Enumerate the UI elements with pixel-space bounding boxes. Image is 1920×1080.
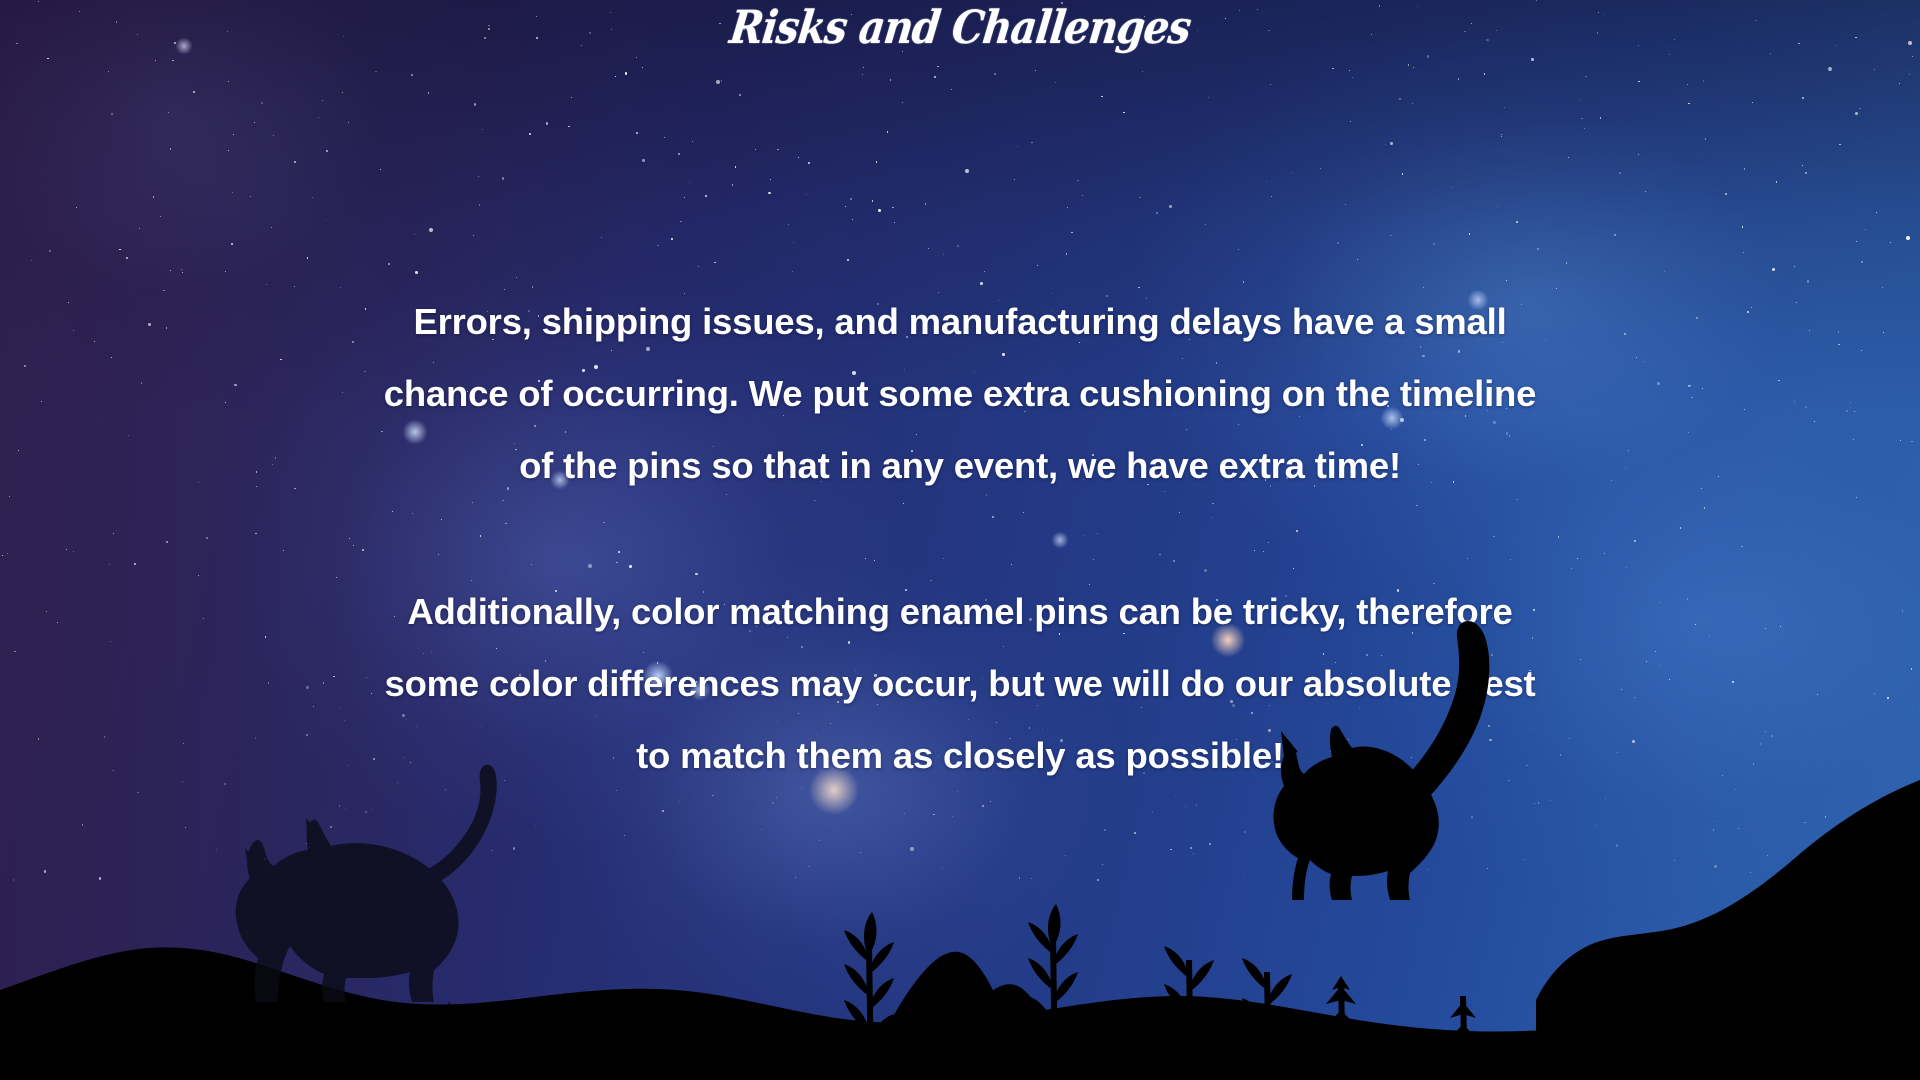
page-title: Risks and Challenges xyxy=(0,5,1920,52)
paragraph-line: of the pins so that in any event, we hav… xyxy=(186,430,1734,502)
walking-cat-silhouette xyxy=(196,762,526,1002)
paragraph-line: chance of occurring. We put some extra c… xyxy=(186,358,1734,430)
banner-canvas: Risks and Challenges Errors, shipping is… xyxy=(0,0,1920,1080)
risks-paragraph: Errors, shipping issues, and manufacturi… xyxy=(0,286,1920,502)
paragraph-line: Errors, shipping issues, and manufacturi… xyxy=(186,286,1734,358)
